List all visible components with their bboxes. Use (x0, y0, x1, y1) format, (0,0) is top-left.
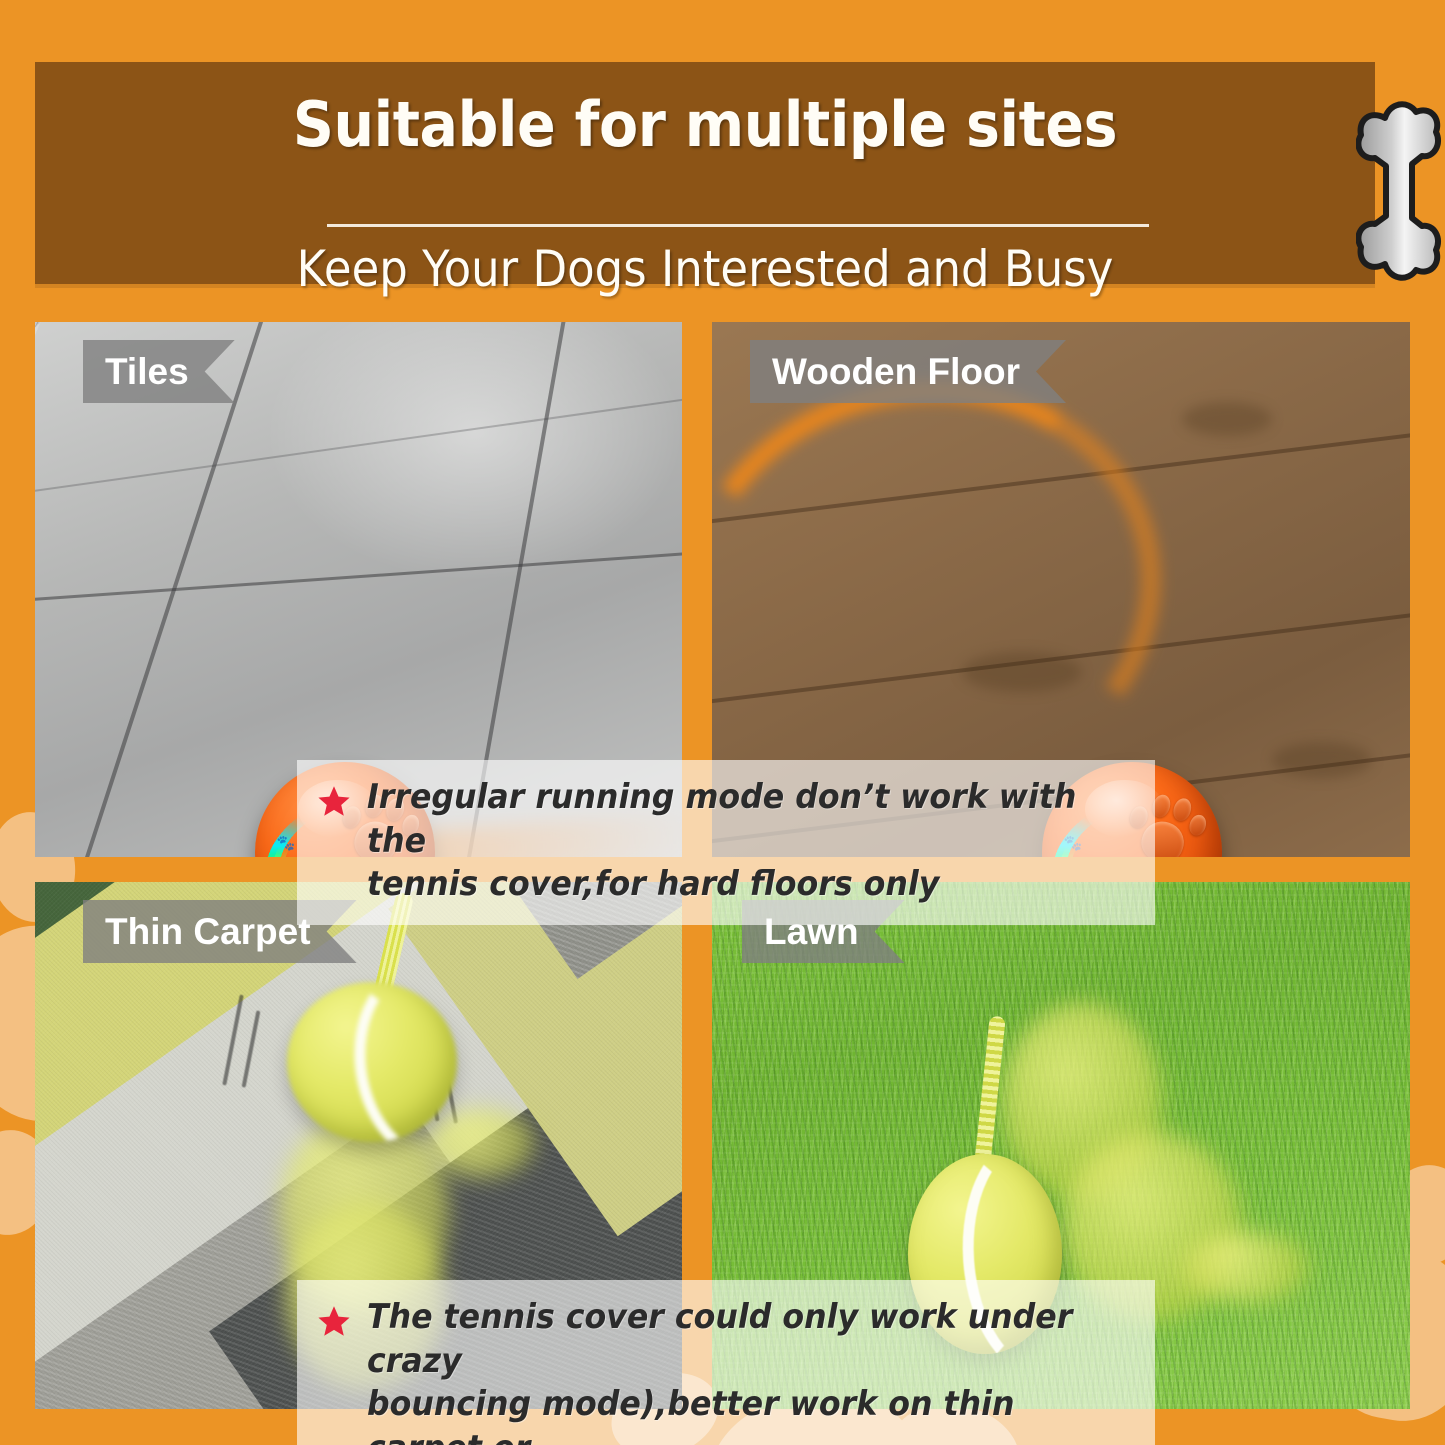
caption-text: Irregular running mode don’t work with t… (367, 776, 1079, 907)
star-icon (317, 784, 351, 818)
tag-wooden-floor: Wooden Floor (750, 340, 1066, 403)
tag-label: Thin Carpet (105, 911, 311, 953)
star-icon (317, 1304, 351, 1338)
wood-knot (1272, 742, 1372, 778)
paw-print-icon-small: 🐾 (277, 834, 296, 852)
header-banner: Suitable for multiple sites Keep Your Do… (35, 62, 1375, 284)
wood-knot (1182, 402, 1272, 436)
tag-label: Tiles (105, 351, 189, 393)
caption-line: The tennis cover could only work under c… (367, 1296, 1079, 1383)
floor-glare (265, 322, 682, 582)
bone-icon (1356, 88, 1442, 293)
caption-line: Irregular running mode don’t work with t… (367, 776, 1079, 863)
tennis-cover-ball (287, 982, 457, 1142)
page-title: Suitable for multiple sites (89, 88, 1322, 161)
caption-text: The tennis cover could only work under c… (367, 1296, 1079, 1445)
caption-line: tennis cover,for hard floors only (367, 863, 1079, 907)
caption-hard-floors: Irregular running mode don’t work with t… (297, 760, 1155, 925)
motion-ghost (1182, 1232, 1312, 1302)
tag-label: Wooden Floor (772, 351, 1020, 393)
infographic-poster: Suitable for multiple sites Keep Your Do… (0, 0, 1445, 1445)
page-subtitle: Keep Your Dogs Interested and Busy (102, 240, 1308, 298)
caption-tennis-cover: The tennis cover could only work under c… (297, 1280, 1155, 1445)
caption-line: bouncing mode),better work on thin carpe… (367, 1383, 1079, 1445)
header-divider (327, 224, 1149, 227)
